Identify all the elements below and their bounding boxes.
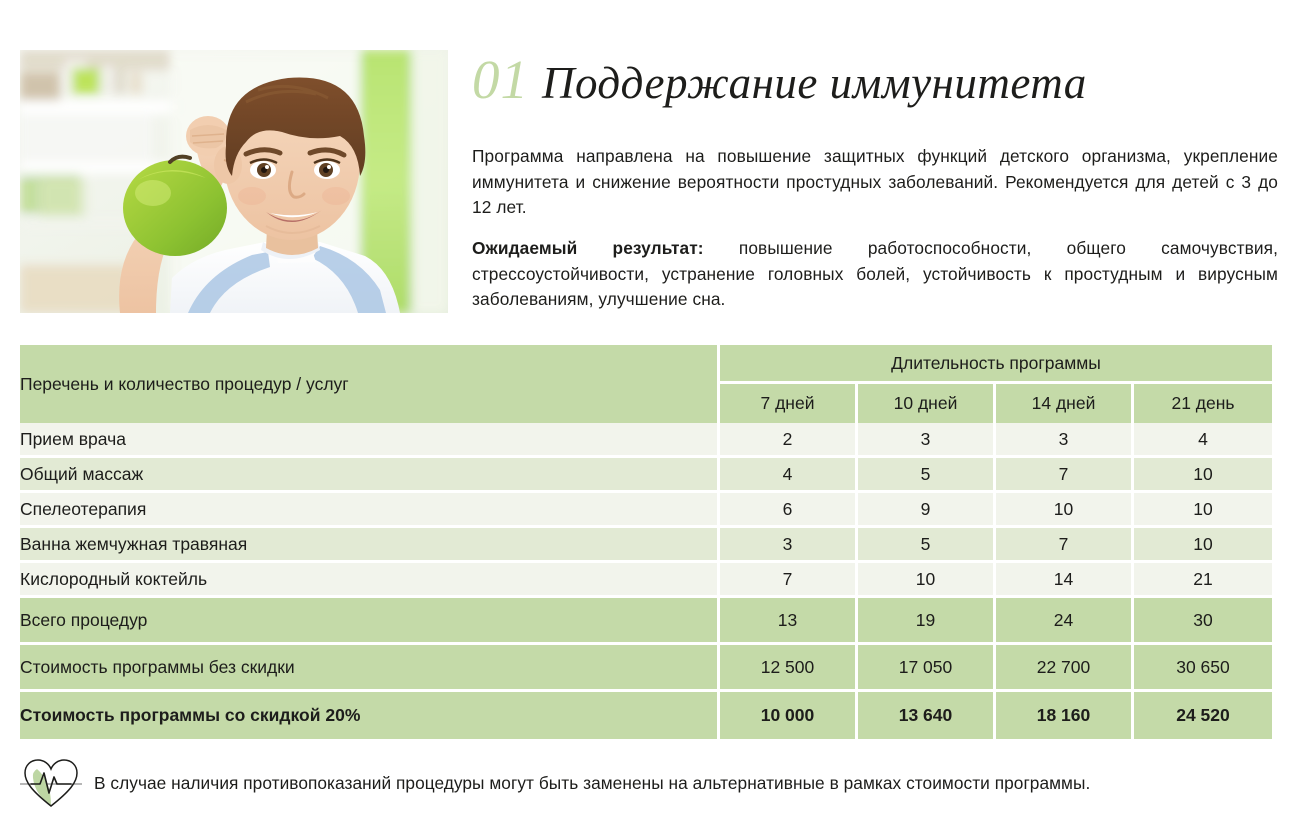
service-count: 3 [858, 423, 996, 458]
table-row: Прием врача 2 3 3 4 [20, 423, 1272, 458]
program-number: 01 [472, 52, 529, 107]
service-count: 7 [996, 528, 1134, 563]
summary-value: 24 [996, 598, 1134, 645]
service-count: 6 [720, 493, 858, 528]
column-header-services: Перечень и количество процедур / услуг [20, 345, 720, 423]
footer-note: В случае наличия противопоказаний процед… [94, 773, 1090, 794]
service-name: Общий массаж [20, 458, 720, 493]
service-count: 3 [720, 528, 858, 563]
summary-value: 30 650 [1134, 645, 1272, 692]
program-table: Перечень и количество процедур / услуг Д… [20, 345, 1272, 739]
summary-value: 17 050 [858, 645, 996, 692]
service-count: 5 [858, 458, 996, 493]
table-header-row-1: Перечень и количество процедур / услуг Д… [20, 345, 1272, 384]
service-count: 7 [720, 563, 858, 598]
table-row-total-procedures: Всего процедур 13 19 24 30 [20, 598, 1272, 645]
service-count: 2 [720, 423, 858, 458]
service-count: 14 [996, 563, 1134, 598]
service-name: Ванна жемчужная травяная [20, 528, 720, 563]
summary-name: Стоимость программы без скидки [20, 645, 720, 692]
page-title: Поддержание иммунитета [542, 61, 1087, 106]
brochure-page: 01 Поддержание иммунитета Программа напр… [0, 0, 1292, 831]
service-count: 10 [996, 493, 1134, 528]
summary-value: 13 640 [858, 692, 996, 739]
column-header-10-days: 10 дней [858, 384, 996, 423]
service-count: 10 [1134, 493, 1272, 528]
service-count: 7 [996, 458, 1134, 493]
summary-name: Всего процедур [20, 598, 720, 645]
expected-result-label: Ожидаемый результат: [472, 238, 704, 258]
top-section: 01 Поддержание иммунитета Программа напр… [0, 0, 1292, 330]
table-row: Ванна жемчужная травяная 3 5 7 10 [20, 528, 1272, 563]
column-header-21-days: 21 день [1134, 384, 1272, 423]
column-header-7-days: 7 дней [720, 384, 858, 423]
summary-value: 24 520 [1134, 692, 1272, 739]
program-description: Программа направлена на повышение защитн… [472, 144, 1278, 221]
service-count: 5 [858, 528, 996, 563]
service-count: 4 [1134, 423, 1272, 458]
program-photo [20, 50, 448, 313]
service-name: Кислородный коктейль [20, 563, 720, 598]
table-row-price-discounted: Стоимость программы со скидкой 20% 10 00… [20, 692, 1272, 739]
heart-pulse-leaf-icon [20, 755, 82, 811]
table-row: Кислородный коктейль 7 10 14 21 [20, 563, 1272, 598]
summary-value: 19 [858, 598, 996, 645]
table-body: Прием врача 2 3 3 4 Общий массаж 4 5 7 1… [20, 423, 1272, 739]
footer: В случае наличия противопоказаний процед… [20, 755, 1280, 811]
service-count: 4 [720, 458, 858, 493]
service-name: Прием врача [20, 423, 720, 458]
summary-value: 12 500 [720, 645, 858, 692]
service-count: 9 [858, 493, 996, 528]
title-block: 01 Поддержание иммунитета [472, 52, 1272, 107]
summary-value: 18 160 [996, 692, 1134, 739]
expected-result-paragraph: Ожидаемый результат: повышение работоспо… [472, 236, 1278, 313]
service-count: 10 [1134, 458, 1272, 493]
table-head: Перечень и количество процедур / услуг Д… [20, 345, 1272, 423]
summary-value: 13 [720, 598, 858, 645]
service-count: 3 [996, 423, 1134, 458]
summary-value: 22 700 [996, 645, 1134, 692]
column-group-header-duration: Длительность программы [720, 345, 1272, 384]
summary-name: Стоимость программы со скидкой 20% [20, 692, 720, 739]
photo-illustration [20, 50, 448, 313]
table-row-price-full: Стоимость программы без скидки 12 500 17… [20, 645, 1272, 692]
summary-value: 30 [1134, 598, 1272, 645]
summary-value: 10 000 [720, 692, 858, 739]
service-name: Спелеотерапия [20, 493, 720, 528]
service-count: 21 [1134, 563, 1272, 598]
service-count: 10 [858, 563, 996, 598]
table-row: Общий массаж 4 5 7 10 [20, 458, 1272, 493]
column-header-14-days: 14 дней [996, 384, 1134, 423]
service-count: 10 [1134, 528, 1272, 563]
table-row: Спелеотерапия 6 9 10 10 [20, 493, 1272, 528]
